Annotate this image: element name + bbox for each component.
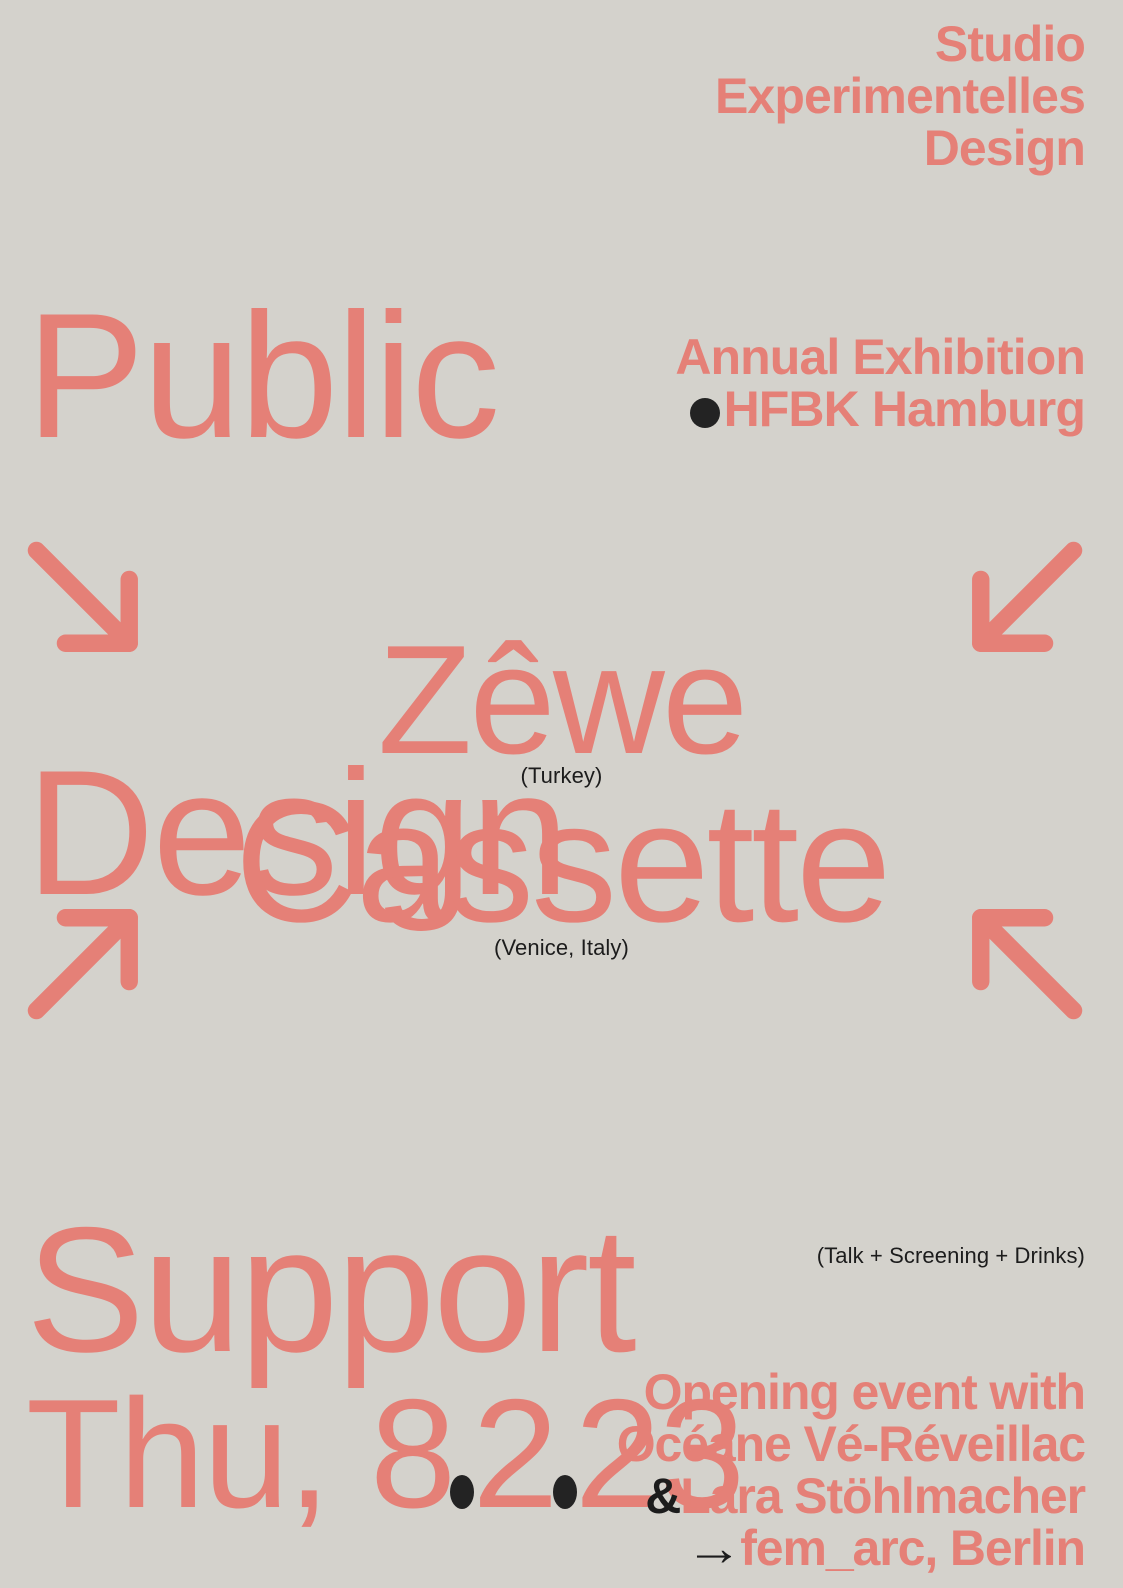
credits-block: Opening event with Océane Vé-Réveillac &… bbox=[617, 1366, 1085, 1574]
studio-line-2: Experimentelles bbox=[715, 70, 1085, 122]
credits-line-4: →fem_arc, Berlin bbox=[617, 1522, 1085, 1574]
headline-line-1: Public bbox=[26, 300, 634, 452]
arrow-right-icon: → bbox=[686, 1522, 742, 1574]
poster-canvas: Public Design Support Studio Experimente… bbox=[0, 0, 1123, 1588]
credits-line-2: Océane Vé-Réveillac bbox=[617, 1418, 1085, 1470]
credits-line-3: &Lara Stöhlmacher bbox=[617, 1470, 1085, 1522]
studio-line-1: Studio bbox=[715, 18, 1085, 70]
studio-line-3: Design bbox=[715, 122, 1085, 174]
black-dot-icon bbox=[690, 398, 720, 428]
exhibition-line-1: Annual Exhibition bbox=[675, 331, 1085, 383]
date-separator-dot-icon-2 bbox=[553, 1475, 577, 1509]
event-date-prefix: Thu, bbox=[26, 1367, 329, 1540]
artist-name-2: Cassette bbox=[0, 782, 1123, 944]
artist-lineup: Zêwe (Turkey) Cassette (Venice, Italy) bbox=[0, 628, 1123, 954]
exhibition-credit: Annual Exhibition HFBK Hamburg bbox=[675, 331, 1085, 435]
event-note: (Talk + Screening + Drinks) bbox=[817, 1243, 1085, 1269]
exhibition-line-2: HFBK Hamburg bbox=[675, 383, 1085, 435]
credits-line-1: Opening event with bbox=[617, 1366, 1085, 1418]
event-date-day: 8 bbox=[370, 1367, 454, 1540]
exhibition-venue-label: HFBK Hamburg bbox=[724, 381, 1085, 437]
event-date-month: 2 bbox=[472, 1367, 556, 1540]
artist-origin-2: (Venice, Italy) bbox=[0, 936, 1123, 960]
ampersand-mark: & bbox=[645, 1468, 680, 1524]
artist-name-1: Zêwe bbox=[0, 628, 1123, 772]
studio-credit: Studio Experimentelles Design bbox=[715, 18, 1085, 174]
credits-organisation: fem_arc, Berlin bbox=[740, 1520, 1085, 1576]
date-separator-dot-icon bbox=[450, 1475, 474, 1509]
credits-speaker-2: Lara Stöhlmacher bbox=[680, 1468, 1085, 1524]
